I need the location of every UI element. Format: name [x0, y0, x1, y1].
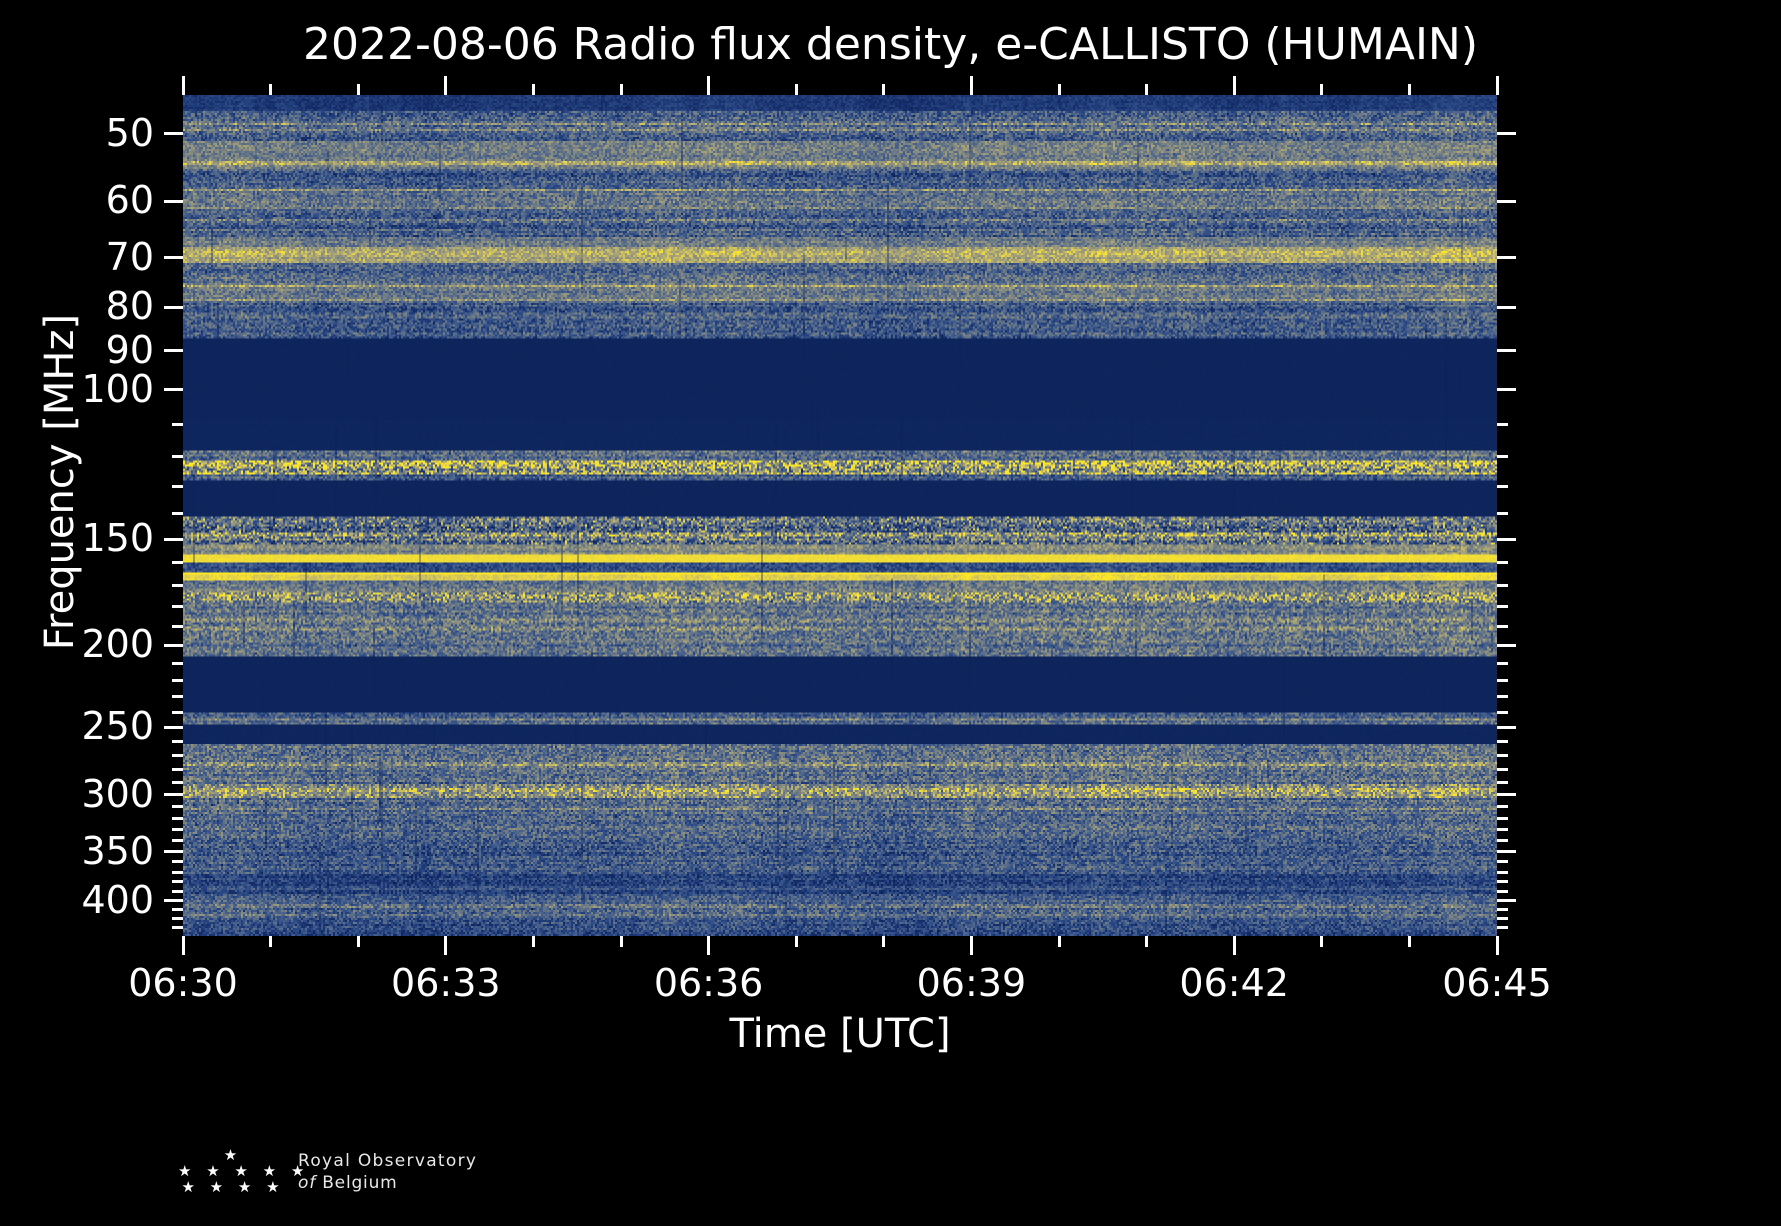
logo-star-row: ★ ★ ★ ★ [178, 1180, 288, 1196]
y-tick-right-major [1497, 349, 1516, 352]
y-tick-minor [172, 817, 183, 820]
y-tick-major [164, 349, 183, 352]
x-tick-label: 06:33 [336, 962, 556, 1004]
y-tick-right-minor [1497, 455, 1508, 458]
x-tick-major [970, 936, 973, 955]
y-tick-major [164, 388, 183, 391]
y-tick-minor [172, 711, 183, 714]
x-tick-top-major [1233, 76, 1236, 95]
logo-text: Royal Observatory of Belgium [298, 1150, 588, 1194]
y-tick-minor [172, 754, 183, 757]
y-tick-right-minor [1497, 860, 1508, 863]
y-tick-right-major [1497, 132, 1516, 135]
x-tick-top-minor [1145, 84, 1148, 95]
y-tick-right-major [1497, 644, 1516, 647]
y-tick-right-minor [1497, 754, 1508, 757]
y-tick-right-minor [1497, 917, 1508, 920]
y-tick-right-minor [1497, 926, 1508, 929]
y-tick-minor [172, 455, 183, 458]
y-tick-right-minor [1497, 561, 1508, 564]
y-tick-major [164, 306, 183, 309]
x-tick-major [1496, 936, 1499, 955]
logo-of-word: of [298, 1173, 316, 1193]
x-tick-label: 06:45 [1387, 962, 1607, 1004]
x-tick-top-minor [795, 84, 798, 95]
y-tick-major [164, 644, 183, 647]
y-tick-right-major [1497, 256, 1516, 259]
y-tick-minor [172, 625, 183, 628]
y-tick-right-minor [1497, 485, 1508, 488]
y-tick-right-minor [1497, 871, 1508, 874]
x-tick-label: 06:36 [599, 962, 819, 1004]
y-tick-right-minor [1497, 512, 1508, 515]
y-tick-right-minor [1497, 805, 1508, 808]
x-tick-minor [882, 936, 885, 947]
y-tick-right-minor [1497, 695, 1508, 698]
y-tick-minor [172, 926, 183, 929]
logo-country: Belgium [322, 1173, 397, 1193]
x-tick-minor [357, 936, 360, 947]
x-tick-top-minor [1320, 84, 1323, 95]
y-tick-minor [172, 908, 183, 911]
y-axis-title: Frequency [MHz] [38, 82, 82, 882]
x-tick-label: 06:42 [1124, 962, 1344, 1004]
x-tick-label: 06:39 [861, 962, 1081, 1004]
y-tick-right-minor [1497, 880, 1508, 883]
x-tick-major [444, 936, 447, 955]
x-tick-minor [795, 936, 798, 947]
y-tick-right-major [1497, 850, 1516, 853]
y-tick-right-major [1497, 793, 1516, 796]
y-tick-minor [172, 805, 183, 808]
x-tick-top-minor [357, 84, 360, 95]
y-tick-right-minor [1497, 908, 1508, 911]
y-tick-major [164, 793, 183, 796]
logo-line-1: Royal Observatory [298, 1150, 588, 1172]
y-tick-right-minor [1497, 711, 1508, 714]
page-title: 2022-08-06 Radio flux density, e-CALLIST… [0, 18, 1781, 72]
y-tick-right-minor [1497, 828, 1508, 831]
y-tick-right-minor [1497, 781, 1508, 784]
y-tick-minor [172, 917, 183, 920]
y-tick-minor [172, 679, 183, 682]
x-tick-minor [1058, 936, 1061, 947]
y-tick-right-minor [1497, 817, 1508, 820]
y-tick-minor [172, 880, 183, 883]
y-tick-right-minor [1497, 584, 1508, 587]
y-tick-right-minor [1497, 662, 1508, 665]
y-tick-right-major [1497, 306, 1516, 309]
y-tick-right-minor [1497, 839, 1508, 842]
y-tick-right-major [1497, 388, 1516, 391]
y-tick-minor [172, 512, 183, 515]
y-tick-minor [172, 860, 183, 863]
spectrogram-heatmap[interactable] [183, 95, 1497, 936]
logo-line-2: of Belgium [298, 1172, 588, 1194]
y-tick-right-minor [1497, 890, 1508, 893]
x-tick-major [182, 936, 185, 955]
y-tick-right-minor [1497, 423, 1508, 426]
y-tick-major [164, 726, 183, 729]
x-tick-minor [269, 936, 272, 947]
x-tick-top-major [1496, 76, 1499, 95]
y-tick-right-minor [1497, 740, 1508, 743]
y-tick-minor [172, 839, 183, 842]
x-tick-top-minor [532, 84, 535, 95]
x-tick-top-major [444, 76, 447, 95]
y-tick-minor [172, 485, 183, 488]
y-tick-major [164, 132, 183, 135]
y-tick-minor [172, 605, 183, 608]
logo-stars-icon: ★ ★ ★ ★ ★ ★ ★ ★ ★ ★ [178, 1148, 288, 1206]
x-tick-minor [1145, 936, 1148, 947]
y-tick-right-minor [1497, 679, 1508, 682]
y-tick-right-major [1497, 726, 1516, 729]
x-tick-label: 06:30 [73, 962, 293, 1004]
y-tick-label: 400 [0, 881, 154, 919]
royal-observatory-belgium-logo: ★ ★ ★ ★ ★ ★ ★ ★ ★ ★ Royal Observatory of… [178, 1148, 598, 1210]
spectrogram-plot-area[interactable] [183, 95, 1497, 936]
x-tick-major [707, 936, 710, 955]
x-tick-minor [1408, 936, 1411, 947]
x-axis-title: Time [UTC] [183, 1010, 1497, 1058]
x-tick-minor [1320, 936, 1323, 947]
x-tick-top-minor [269, 84, 272, 95]
y-tick-minor [172, 662, 183, 665]
y-tick-minor [172, 828, 183, 831]
x-tick-top-minor [1058, 84, 1061, 95]
y-tick-minor [172, 768, 183, 771]
x-tick-major [1233, 936, 1236, 955]
y-tick-minor [172, 781, 183, 784]
y-tick-right-major [1497, 200, 1516, 203]
x-tick-minor [620, 936, 623, 947]
x-tick-top-major [182, 76, 185, 95]
y-tick-minor [172, 423, 183, 426]
y-tick-minor [172, 890, 183, 893]
x-tick-minor [532, 936, 535, 947]
y-tick-minor [172, 871, 183, 874]
y-tick-major [164, 200, 183, 203]
x-tick-top-minor [620, 84, 623, 95]
y-tick-right-minor [1497, 605, 1508, 608]
y-tick-minor [172, 695, 183, 698]
x-tick-top-major [707, 76, 710, 95]
x-tick-top-major [970, 76, 973, 95]
spectrogram-figure: 2022-08-06 Radio flux density, e-CALLIST… [0, 0, 1781, 1226]
y-tick-minor [172, 740, 183, 743]
y-tick-right-major [1497, 538, 1516, 541]
y-tick-minor [172, 561, 183, 564]
y-tick-major [164, 538, 183, 541]
x-tick-top-minor [1408, 84, 1411, 95]
x-tick-top-minor [882, 84, 885, 95]
y-tick-right-minor [1497, 768, 1508, 771]
y-tick-minor [172, 584, 183, 587]
y-tick-major [164, 850, 183, 853]
y-tick-right-minor [1497, 625, 1508, 628]
y-tick-major [164, 256, 183, 259]
y-tick-right-major [1497, 899, 1516, 902]
y-tick-major [164, 899, 183, 902]
